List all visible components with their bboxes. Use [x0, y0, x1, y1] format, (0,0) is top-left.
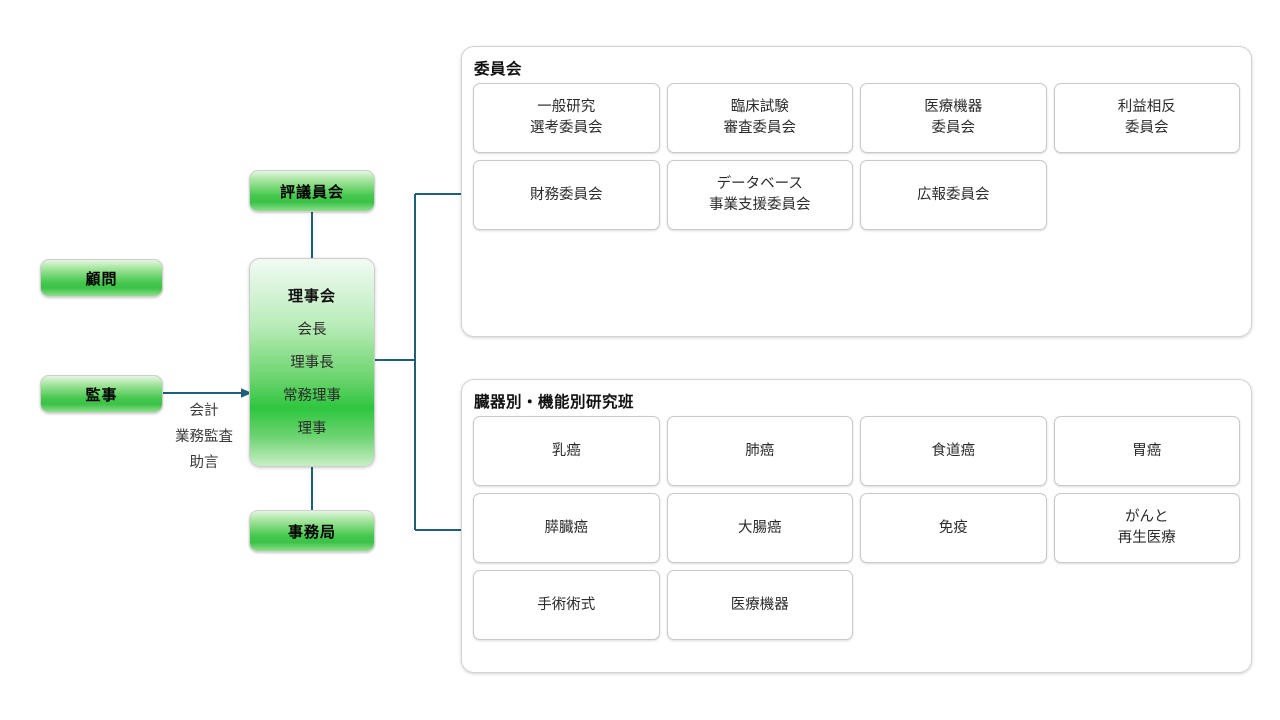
card-research-groups-3[interactable]: 胃癌 [1054, 416, 1241, 486]
card-committees-0[interactable]: 一般研究 選考委員会 [473, 83, 660, 153]
node-councillors[interactable]: 評議員会 [249, 170, 375, 212]
card-committees-1[interactable]: 臨床試験 審査委員会 [667, 83, 854, 153]
node-auditor-label: 監事 [85, 384, 117, 405]
panel-committees-title: 委員会 [474, 57, 522, 79]
card-research-groups-5[interactable]: 大腸癌 [667, 493, 854, 563]
card-committees-2[interactable]: 医療機器 委員会 [860, 83, 1047, 153]
node-auditor[interactable]: 監事 [40, 375, 163, 413]
card-committees-6[interactable]: 広報委員会 [860, 160, 1047, 230]
card-research-groups-6[interactable]: 免疫 [860, 493, 1047, 563]
card-committees-4[interactable]: 財務委員会 [473, 160, 660, 230]
node-secretariat[interactable]: 事務局 [249, 510, 375, 552]
card-committees-3[interactable]: 利益相反 委員会 [1054, 83, 1241, 153]
node-board-of-directors[interactable]: 理事会 会長 理事長 常務理事 理事 [249, 258, 375, 467]
panel-research-groups-grid: 乳癌肺癌食道癌胃癌膵臓癌大腸癌免疫がんと 再生医療手術術式医療機器 [473, 416, 1240, 640]
card-committees-5[interactable]: データベース 事業支援委員会 [667, 160, 854, 230]
card-research-groups-4[interactable]: 膵臓癌 [473, 493, 660, 563]
wire-auditor-to-board [163, 388, 252, 398]
board-role-4: 理事 [298, 417, 327, 438]
node-councillors-label: 評議員会 [280, 181, 344, 202]
node-advisor[interactable]: 顧問 [40, 259, 163, 297]
auditor-duty-2: 業務監査 [158, 424, 250, 450]
auditor-duty-3: 助言 [158, 450, 250, 476]
panel-committees: 委員会 一般研究 選考委員会臨床試験 審査委員会医療機器 委員会利益相反 委員会… [461, 46, 1252, 337]
node-advisor-label: 顧問 [85, 268, 117, 289]
panel-research-groups-title: 臓器別・機能別研究班 [474, 390, 634, 412]
board-role-2: 理事長 [290, 351, 334, 372]
auditor-duties-note: 会計 業務監査 助言 [158, 398, 250, 476]
org-chart-canvas: 顧問 監事 会計 業務監査 助言 評議員会 理事会 会長 理事長 常務理事 理事… [0, 0, 1280, 720]
card-research-groups-0[interactable]: 乳癌 [473, 416, 660, 486]
card-research-groups-8[interactable]: 手術術式 [473, 570, 660, 640]
card-research-groups-9[interactable]: 医療機器 [667, 570, 854, 640]
auditor-duty-1: 会計 [158, 398, 250, 424]
board-role-3: 常務理事 [283, 384, 341, 405]
board-title: 理事会 [288, 285, 336, 306]
board-role-1: 会長 [298, 318, 327, 339]
panel-committees-grid: 一般研究 選考委員会臨床試験 審査委員会医療機器 委員会利益相反 委員会財務委員… [473, 83, 1240, 230]
node-secretariat-label: 事務局 [288, 521, 336, 542]
card-research-groups-1[interactable]: 肺癌 [667, 416, 854, 486]
card-research-groups-7[interactable]: がんと 再生医療 [1054, 493, 1241, 563]
panel-research-groups: 臓器別・機能別研究班 乳癌肺癌食道癌胃癌膵臓癌大腸癌免疫がんと 再生医療手術術式… [461, 379, 1252, 673]
card-research-groups-2[interactable]: 食道癌 [860, 416, 1047, 486]
